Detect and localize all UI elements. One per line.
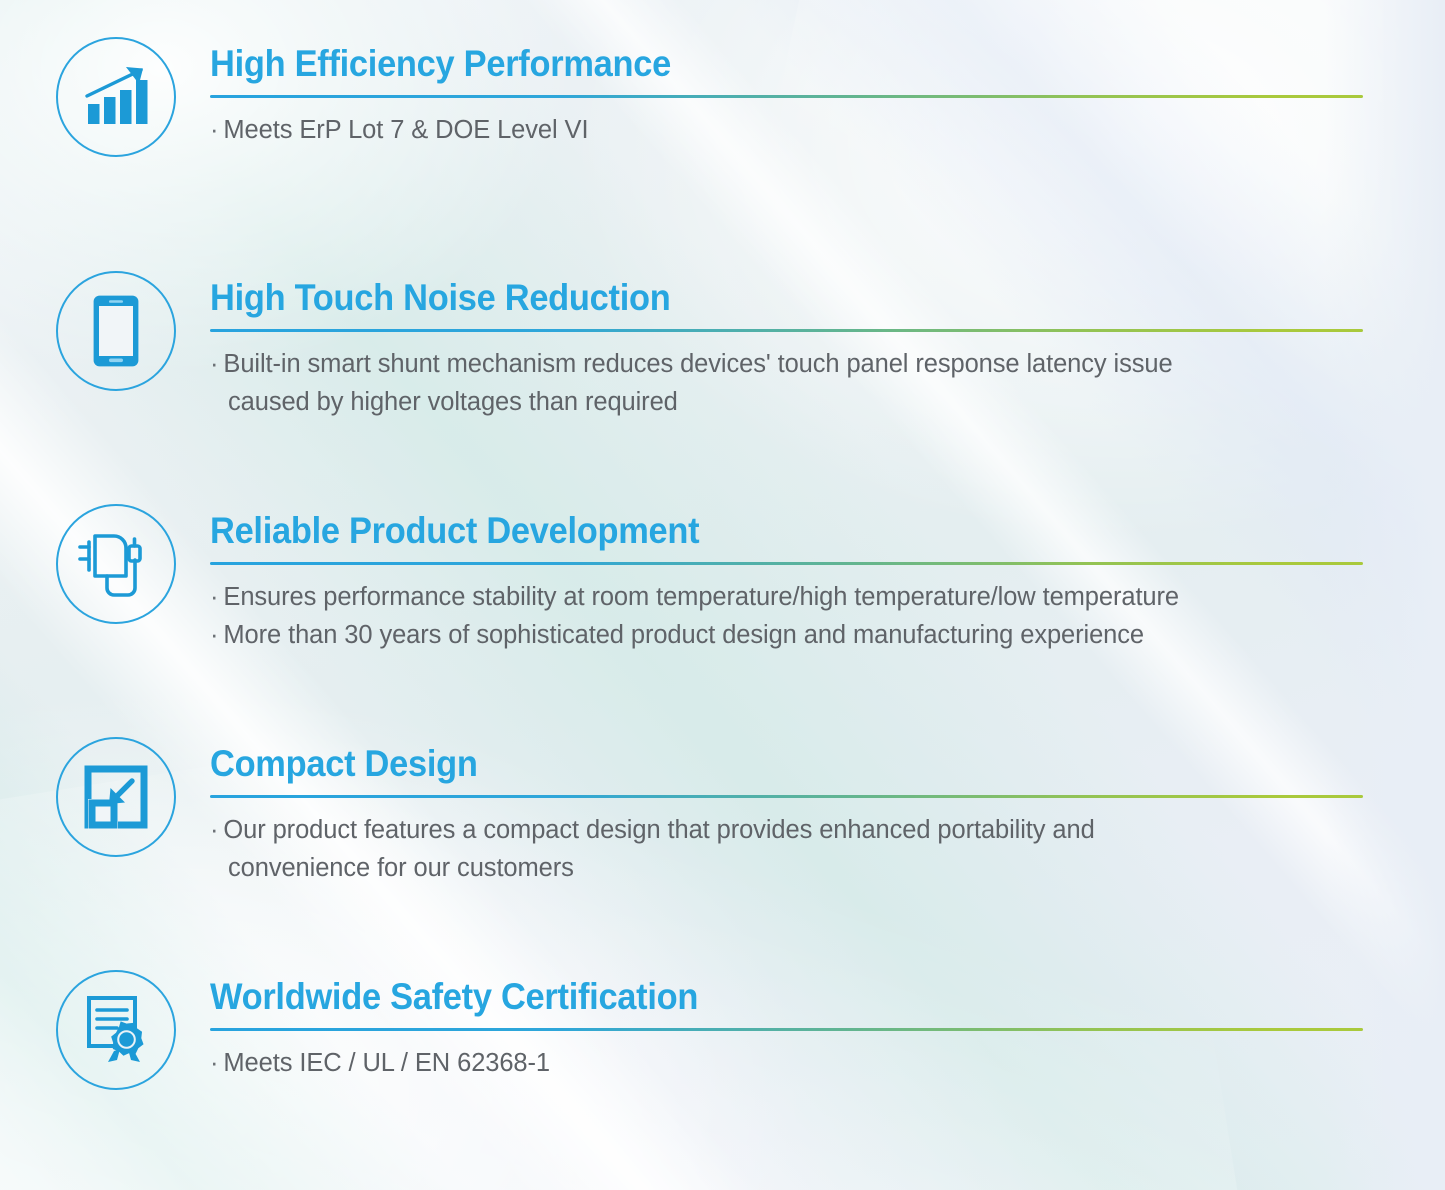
bullet-item: ·More than 30 years of sophisticated pro… (210, 616, 1445, 654)
feature-title: High Touch Noise Reduction (210, 276, 1359, 320)
bar-chart-growth-icon (56, 37, 176, 157)
feature-divider (210, 95, 1363, 98)
feature-title: Compact Design (210, 742, 1359, 786)
feature-title: Reliable Product Development (210, 509, 1359, 553)
feature-item-high-efficiency-performance: High Efficiency Performance ·Meets ErP L… (0, 36, 1445, 158)
bullet-item: ·Our product features a compact design t… (210, 811, 1445, 887)
bullet-text: Built-in smart shunt mechanism reduces d… (223, 350, 1172, 378)
certificate-award-icon (56, 970, 176, 1090)
compact-resize-icon (56, 737, 176, 857)
feature-icon-wrap (55, 503, 177, 625)
feature-body: High Efficiency Performance ·Meets ErP L… (210, 36, 1445, 149)
bullet-marker: · (210, 621, 218, 649)
bullet-text-continued: convenience for our customers (210, 849, 1445, 887)
feature-item-high-touch-noise-reduction: High Touch Noise Reduction ·Built-in sma… (0, 270, 1445, 421)
feature-bullets: ·Our product features a compact design t… (210, 811, 1445, 887)
bullet-marker: · (210, 350, 218, 378)
bullet-item: ·Meets IEC / UL / EN 62368-1 (210, 1044, 1445, 1082)
feature-icon-wrap (55, 969, 177, 1091)
feature-divider (210, 562, 1363, 565)
bullet-marker: · (210, 1049, 218, 1077)
feature-divider (210, 795, 1363, 798)
bullet-marker: · (210, 116, 218, 144)
bullet-item: ·Meets ErP Lot 7 & DOE Level VI (210, 111, 1445, 149)
feature-list: High Efficiency Performance ·Meets ErP L… (0, 0, 1445, 1190)
feature-body: High Touch Noise Reduction ·Built-in sma… (210, 270, 1445, 421)
feature-divider (210, 1028, 1363, 1031)
feature-bullets: ·Meets IEC / UL / EN 62368-1 (210, 1044, 1445, 1082)
bullet-text: Meets IEC / UL / EN 62368-1 (223, 1049, 550, 1077)
feature-item-reliable-product-development: Reliable Product Development ·Ensures pe… (0, 503, 1445, 654)
feature-bullets: ·Built-in smart shunt mechanism reduces … (210, 345, 1445, 421)
bullet-text: Ensures performance stability at room te… (223, 583, 1179, 611)
feature-title: High Efficiency Performance (210, 42, 1359, 86)
feature-title: Worldwide Safety Certification (210, 975, 1359, 1019)
bullet-item: ·Ensures performance stability at room t… (210, 578, 1445, 616)
smartphone-icon (56, 271, 176, 391)
power-adapter-icon (56, 504, 176, 624)
bullet-text-continued: caused by higher voltages than required (210, 383, 1445, 421)
feature-icon-wrap (55, 736, 177, 858)
feature-icon-wrap (55, 270, 177, 392)
bullet-marker: · (210, 583, 218, 611)
feature-icon-wrap (55, 36, 177, 158)
feature-item-compact-design: Compact Design ·Our product features a c… (0, 736, 1445, 887)
bullet-text: More than 30 years of sophisticated prod… (223, 621, 1144, 649)
feature-body: Reliable Product Development ·Ensures pe… (210, 503, 1445, 654)
feature-bullets: ·Meets ErP Lot 7 & DOE Level VI (210, 111, 1445, 149)
bullet-marker: · (210, 816, 218, 844)
bullet-text: Our product features a compact design th… (223, 816, 1094, 844)
bullet-text: Meets ErP Lot 7 & DOE Level VI (223, 116, 588, 144)
feature-divider (210, 329, 1363, 332)
feature-body: Worldwide Safety Certification ·Meets IE… (210, 969, 1445, 1082)
feature-bullets: ·Ensures performance stability at room t… (210, 578, 1445, 654)
bullet-item: ·Built-in smart shunt mechanism reduces … (210, 345, 1445, 421)
feature-item-worldwide-safety-certification: Worldwide Safety Certification ·Meets IE… (0, 969, 1445, 1091)
feature-body: Compact Design ·Our product features a c… (210, 736, 1445, 887)
